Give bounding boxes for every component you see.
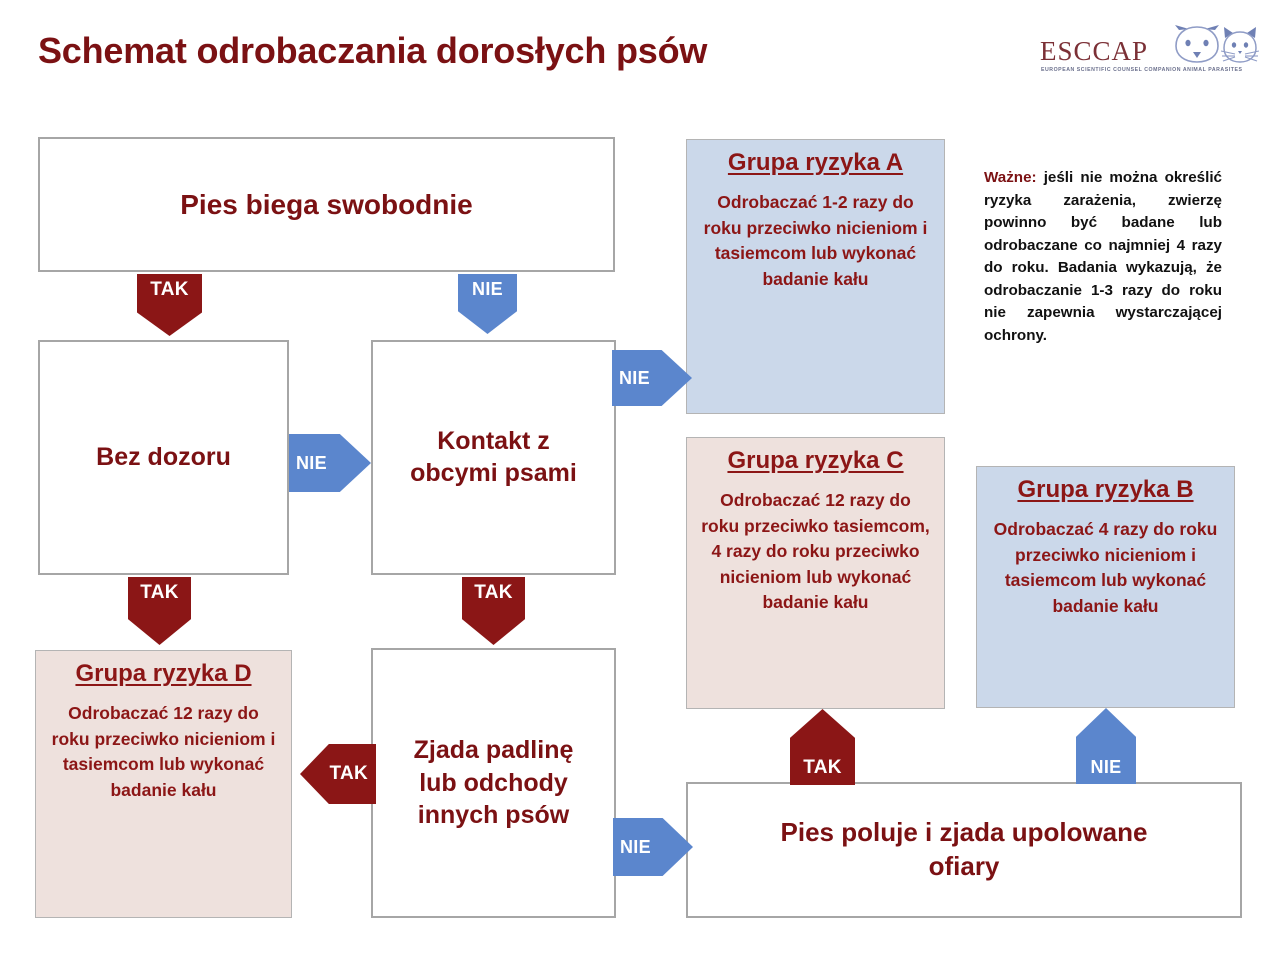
edge-label-text: NIE: [620, 837, 651, 858]
edge-label-nie-unsupervised-to-contact-dogs: NIE: [289, 434, 371, 492]
edge-label-nie-contact-dogs-to-group-a: NIE: [612, 350, 692, 406]
edge-label-nie-hunts-prey-to-group-b: NIE: [1076, 708, 1136, 784]
edge-label-tak-hunts-prey-to-group-c: TAK: [790, 709, 855, 785]
decision-eats-carrion-or-faeces[interactable]: Zjada padlinę lub odchody innych psów: [371, 648, 616, 918]
edge-label-tak-free-running-to-unsupervised: TAK: [137, 274, 202, 336]
decision-hunts-and-eats-prey[interactable]: Pies poluje i zjada upolowane ofiary: [686, 782, 1242, 918]
logo-wordmark: ESCCAP: [1040, 36, 1148, 67]
edge-label-nie-eats-carrion-to-hunts-prey: NIE: [613, 818, 693, 876]
decision-label: Pies biega swobodnie: [180, 189, 473, 221]
edge-label-text: TAK: [329, 763, 368, 785]
risk-group-b-body: Odrobaczać 4 razy do roku przeciwko nici…: [985, 517, 1226, 619]
slide-canvas: Schemat odrobaczania dorosłych psów ESCC…: [0, 0, 1280, 960]
decision-label-line1: Zjada padlinę: [414, 734, 574, 767]
decision-label-line1: Kontakt z: [437, 426, 550, 457]
edge-label-text: TAK: [150, 279, 189, 301]
risk-group-b-title: Grupa ryzyka B: [1017, 477, 1193, 503]
decision-label: Bez dozoru: [96, 443, 231, 472]
risk-group-a: Grupa ryzyka A Odrobaczać 1-2 razy do ro…: [686, 139, 945, 414]
edge-label-text: TAK: [140, 582, 179, 604]
page-title: Schemat odrobaczania dorosłych psów: [38, 30, 707, 72]
risk-group-a-title: Grupa ryzyka A: [728, 150, 903, 176]
edge-label-text: TAK: [803, 757, 842, 779]
decision-unsupervised[interactable]: Bez dozoru: [38, 340, 289, 575]
edge-label-text: NIE: [1091, 757, 1122, 778]
edge-label-text: TAK: [474, 582, 513, 604]
edge-label-tak-contact-dogs-to-eats-carrion: TAK: [462, 577, 525, 645]
risk-group-b: Grupa ryzyka B Odrobaczać 4 razy do roku…: [976, 466, 1235, 708]
risk-group-d: Grupa ryzyka D Odrobaczać 12 razy do rok…: [35, 650, 292, 918]
dog-and-cat-heads-icon: [1167, 24, 1259, 68]
edge-label-nie-free-running-to-contact-dogs: NIE: [458, 274, 517, 334]
decision-free-running[interactable]: Pies biega swobodnie: [38, 137, 615, 272]
decision-label-line1: Pies poluje i zjada upolowane: [781, 816, 1148, 850]
important-note-text: jeśli nie można określić ryzyka zarażeni…: [984, 169, 1222, 344]
risk-group-a-body: Odrobaczać 1-2 razy do roku przeciwko ni…: [695, 190, 936, 292]
risk-group-c-title: Grupa ryzyka C: [727, 448, 903, 474]
edge-label-text: NIE: [472, 279, 503, 300]
important-note: Ważne: jeśli nie można określić ryzyka z…: [984, 167, 1222, 347]
edge-label-text: NIE: [619, 368, 650, 389]
edge-label-tak-unsupervised-to-group-d: TAK: [128, 577, 191, 645]
decision-label-line2: ofiary: [929, 850, 1000, 884]
decision-label-line2: obcymi psami: [410, 458, 577, 489]
decision-contact-with-strange-dogs[interactable]: Kontakt z obcymi psami: [371, 340, 616, 575]
risk-group-c: Grupa ryzyka C Odrobaczać 12 razy do rok…: [686, 437, 945, 709]
edge-label-tak-eats-carrion-to-group-d: TAK: [300, 744, 376, 804]
esccap-logo: ESCCAP EUROPEAN SCIENTIFIC COUNSEL COMPA…: [1040, 22, 1258, 86]
risk-group-c-body: Odrobaczać 12 razy do roku przeciwko tas…: [695, 488, 936, 615]
risk-group-d-title: Grupa ryzyka D: [75, 661, 251, 687]
edge-label-text: NIE: [296, 453, 327, 474]
decision-label-line3: innych psów: [418, 799, 569, 832]
decision-label-line2: lub odchody: [419, 767, 568, 800]
risk-group-d-body: Odrobaczać 12 razy do roku przeciwko nic…: [44, 701, 283, 803]
important-note-keyword: Ważne:: [984, 169, 1037, 186]
